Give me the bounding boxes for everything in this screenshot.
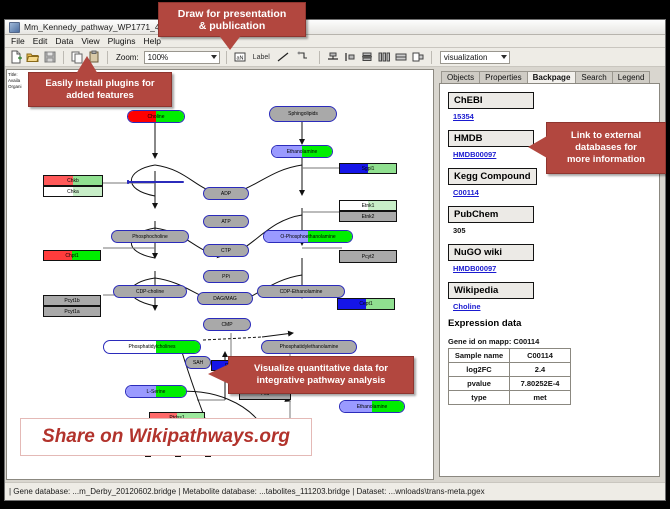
nugo-link[interactable]: HMDB00097 <box>453 264 659 273</box>
menu-item-plugins[interactable]: Plugins <box>108 36 136 46</box>
node-ethanolamine-top[interactable]: Ethanolamine <box>271 145 333 158</box>
visualization-value: visualization <box>444 53 488 62</box>
tab-search[interactable]: Search <box>575 71 612 83</box>
node-label: L-Serine <box>147 389 166 395</box>
gene-pcyt1b[interactable]: Pcyt1b <box>43 295 101 306</box>
callout-line-2: databases for <box>575 142 637 154</box>
node-o-phosphoethanolamine[interactable]: O-Phosphoethanolamine <box>263 230 353 243</box>
node-l-serine-left[interactable]: L-Serine <box>125 385 187 398</box>
callout-share-wikipathways: Share on Wikipathways.org <box>20 418 312 456</box>
table-row: log2FC 2.4 <box>449 363 571 377</box>
menu-item-file[interactable]: File <box>11 36 25 46</box>
node-label: Phosphatidylethanolamine <box>280 344 339 350</box>
section-header: PubChem <box>448 206 534 223</box>
expression-data-title: Expression data <box>448 318 659 329</box>
statusbar-text: | Gene database: ...m_Derby_20120602.bri… <box>5 487 485 496</box>
visualization-combo[interactable]: visualization <box>440 51 510 64</box>
node-label: Pcyt2 <box>362 254 375 260</box>
expression-table: Sample name C00114 log2FC 2.4 pvalue 7.8… <box>448 348 571 405</box>
open-folder-icon[interactable] <box>26 50 40 64</box>
statusbar: | Gene database: ...m_Derby_20120602.bri… <box>5 482 665 500</box>
callout-line-1: Link to external <box>571 130 641 142</box>
node-label: CDP-choline <box>136 289 164 295</box>
node-label: Sphingolipids <box>288 111 318 117</box>
table-row: Sample name C00114 <box>449 349 571 363</box>
table-cell: 7.80252E-4 <box>510 377 571 391</box>
wikipedia-link[interactable]: Choline <box>453 302 659 311</box>
window-titlebar: Mm_Kennedy_pathway_WP1771_45176.gpml <box>5 20 665 35</box>
node-label: ADP <box>221 191 231 197</box>
node-label: CTP <box>221 248 231 254</box>
node-phosphatidylethanolamine[interactable]: Phosphatidylethanolamine <box>261 340 357 354</box>
chevron-down-icon <box>501 55 507 59</box>
callout-visualize-data: Visualize quantitative data for integrat… <box>228 356 414 394</box>
zoom-combo[interactable]: 100% <box>144 51 220 64</box>
chevron-down-icon <box>211 55 217 59</box>
node-label: Ethanolamine <box>287 149 318 155</box>
table-row: type met <box>449 391 571 405</box>
tab-backpage[interactable]: Backpage <box>527 71 577 83</box>
node-label: Choline <box>148 114 165 120</box>
menubar: File Edit Data View Plugins Help <box>5 35 665 48</box>
save-icon[interactable] <box>43 50 57 64</box>
callout-visualize-arrow <box>208 364 229 384</box>
align-left-icon[interactable] <box>343 50 357 64</box>
callout-line-2: integrative pathway analysis <box>257 375 386 387</box>
distribute-icon[interactable] <box>377 50 391 64</box>
node-choline-top[interactable]: Choline <box>127 110 185 123</box>
callout-links-arrow <box>528 136 547 158</box>
node-phosphatidylcholines[interactable]: Phosphatidylcholines <box>103 340 201 354</box>
tab-properties[interactable]: Properties <box>479 71 527 83</box>
menu-item-help[interactable]: Help <box>144 36 161 46</box>
table-cell: log2FC <box>449 363 510 377</box>
node-label: DAG/MAG <box>213 296 237 302</box>
node-sphingolipids[interactable]: Sphingolipids <box>269 106 337 122</box>
kegg-link[interactable]: C00114 <box>453 188 659 197</box>
side-panel-tabs: Objects Properties Backpage Search Legen… <box>435 69 664 83</box>
menu-item-data[interactable]: Data <box>55 36 73 46</box>
svg-text:aN: aN <box>236 56 243 62</box>
callout-draw-arrow <box>218 34 242 50</box>
node-label: Phosphatidylcholines <box>129 344 176 350</box>
pubchem-value: 305 <box>453 226 659 235</box>
table-cell: pvalue <box>449 377 510 391</box>
node-label: Pcyt1b <box>64 298 79 304</box>
node-dag-mag[interactable]: DAG/MAG <box>197 292 253 305</box>
backpage-section-nugo: NuGO wiki HMDB00097 <box>448 242 659 273</box>
menu-item-view[interactable]: View <box>81 36 99 46</box>
callout-line-1: Draw for presentation <box>178 8 287 20</box>
backpage-section-wikipedia: Wikipedia Choline <box>448 280 659 311</box>
callout-plugins-arrow <box>76 56 98 74</box>
node-label: Chpt1 <box>65 253 78 259</box>
gene-pcyt2[interactable]: Pcyt2 <box>339 250 397 263</box>
node-label: Etnk2 <box>362 214 375 220</box>
chebi-link[interactable]: 15354 <box>453 112 659 121</box>
callout-line-2: added features <box>66 90 134 102</box>
node-label: Chkb <box>67 178 79 184</box>
node-cdp-choline[interactable]: CDP-choline <box>113 285 187 298</box>
node-label: Ethanolamine <box>357 404 388 410</box>
gene-etnk2[interactable]: Etnk2 <box>339 211 397 222</box>
toolbar-separator <box>226 51 227 64</box>
section-header: HMDB <box>448 130 534 147</box>
backpage-section-chebi: ChEBI 15354 <box>448 90 659 121</box>
zoom-label: Zoom: <box>116 53 139 62</box>
table-cell: 2.4 <box>510 363 571 377</box>
section-header: NuGO wiki <box>448 244 534 261</box>
gene-sgpl1[interactable]: Sgpl1 <box>339 163 397 174</box>
node-cmp[interactable]: CMP <box>203 318 251 331</box>
table-cell: Sample name <box>449 349 510 363</box>
gene-chkb[interactable]: Chkb <box>43 175 103 186</box>
table-cell: type <box>449 391 510 405</box>
table-row: pvalue 7.80252E-4 <box>449 377 571 391</box>
callout-line-3: more information <box>567 154 645 166</box>
section-header: ChEBI <box>448 92 534 109</box>
node-label: O-Phosphoethanolamine <box>280 234 335 240</box>
datanode-icon[interactable]: aN <box>233 50 247 64</box>
line-icon[interactable] <box>276 50 290 64</box>
node-label: Pcyt1a <box>64 309 79 315</box>
node-label: CMP <box>221 322 232 328</box>
gene-id-line: Gene id on mapp: C00114 <box>448 337 659 346</box>
node-ethanolamine-bottom[interactable]: Ethanolamine <box>339 400 405 413</box>
stack-center-icon[interactable] <box>360 50 374 64</box>
gene-pcyt1a[interactable]: Pcyt1a <box>43 306 101 317</box>
node-label: SAH <box>193 360 203 366</box>
toolbar-separator <box>63 51 64 64</box>
table-cell: C00114 <box>510 349 571 363</box>
section-header: Kegg Compound <box>448 168 537 185</box>
gene-etnk1[interactable]: Etnk1 <box>339 200 397 211</box>
share-text: Share on Wikipathways.org <box>42 426 290 448</box>
node-atp[interactable]: ATP <box>203 215 249 228</box>
zoom-value: 100% <box>148 53 168 62</box>
new-file-icon[interactable] <box>9 50 23 64</box>
tab-objects[interactable]: Objects <box>441 71 480 83</box>
screenshot-root: Mm_Kennedy_pathway_WP1771_45176.gpml Fil… <box>0 0 670 509</box>
backpage-section-pubchem: PubChem 305 <box>448 204 659 235</box>
callout-line-1: Easily install plugins for <box>45 78 154 90</box>
table-cell: met <box>510 391 571 405</box>
node-label: CDP-Ethanolamine <box>280 289 323 295</box>
node-label: Chka <box>67 189 79 195</box>
node-phosphocholine[interactable]: Phosphocholine <box>111 230 189 243</box>
toolbar-separator <box>319 51 320 64</box>
toolbar-separator <box>107 51 108 64</box>
node-label: Sgpl1 <box>362 166 375 172</box>
gene-chpt1[interactable]: Chpt1 <box>43 250 101 261</box>
callout-line-2: & publication <box>199 20 266 32</box>
gene-cept1[interactable]: Cept1 <box>337 298 395 310</box>
section-header: Wikipedia <box>448 282 534 299</box>
pathvisio-icon <box>9 22 20 33</box>
tab-legend[interactable]: Legend <box>612 71 651 83</box>
node-adp[interactable]: ADP <box>203 187 249 200</box>
node-label: PPi <box>222 274 230 280</box>
connector-icon[interactable] <box>296 50 310 64</box>
toolbar: Zoom: 100% aN Label <box>5 48 665 67</box>
label-tool-label[interactable]: Label <box>253 54 270 61</box>
node-label: ATP <box>221 219 230 225</box>
menu-item-edit[interactable]: Edit <box>33 36 48 46</box>
ungroup-icon[interactable] <box>411 50 425 64</box>
callout-line-1: Visualize quantitative data for <box>254 363 388 375</box>
callout-external-links: Link to external databases for more info… <box>546 122 666 174</box>
node-label: Cept1 <box>359 301 372 307</box>
callout-install-plugins: Easily install plugins for added feature… <box>28 72 172 107</box>
node-label: Etnk1 <box>362 203 375 209</box>
gene-chka[interactable]: Chka <box>43 186 103 197</box>
node-label: Phosphocholine <box>132 234 168 240</box>
node-ctp[interactable]: CTP <box>203 244 249 257</box>
node-ppi[interactable]: PPi <box>203 270 249 283</box>
align-top-icon[interactable] <box>326 50 340 64</box>
callout-draw-for-publication: Draw for presentation & publication <box>158 2 306 37</box>
toolbar-separator <box>431 51 432 64</box>
node-cdp-ethanolamine[interactable]: CDP-Ethanolamine <box>257 285 345 298</box>
group-icon[interactable] <box>394 50 408 64</box>
